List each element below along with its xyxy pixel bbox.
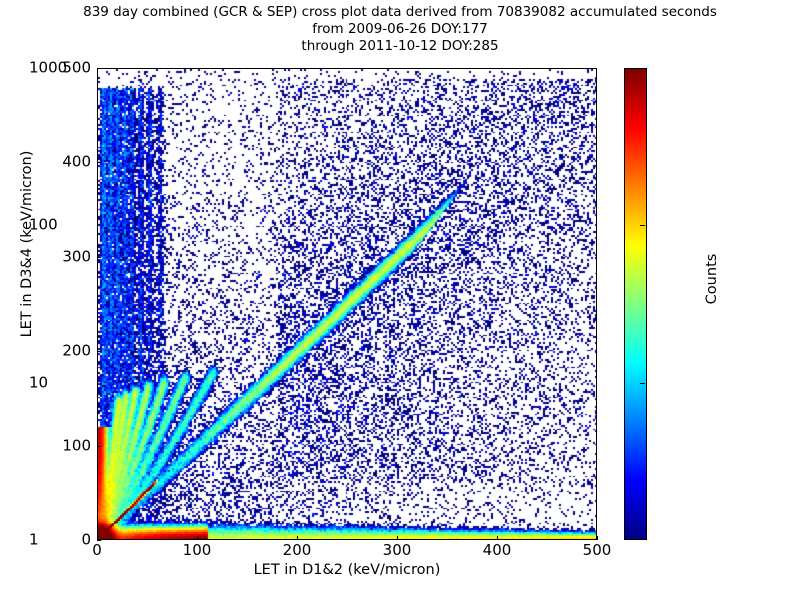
x-tick-mark	[397, 536, 398, 540]
x-tick-mark	[97, 536, 98, 540]
x-tick-mark	[197, 536, 198, 540]
x-tick-label: 400	[483, 543, 512, 558]
title-line-3: through 2011-10-12 DOY:285	[0, 38, 800, 55]
x-tick-mark	[497, 536, 498, 540]
figure-root: 839 day combined (GCR & SEP) cross plot …	[0, 0, 800, 600]
y-tick-label: 0	[51, 533, 91, 548]
colorbar-tick-mark	[640, 225, 645, 226]
x-tick-label: 500	[583, 543, 612, 558]
x-tick-label: 300	[383, 543, 412, 558]
x-tick-mark	[297, 536, 298, 540]
colorbar-tick-label: 1000	[29, 61, 67, 76]
y-tick-mark	[97, 68, 101, 69]
y-tick-mark	[97, 162, 101, 163]
x-tick-mark	[597, 536, 598, 540]
y-tick-mark	[97, 257, 101, 258]
colorbar-tick-label: 10	[29, 375, 48, 390]
colorbar-tick-label: 1	[29, 533, 39, 548]
title-line-2: from 2009-06-26 DOY:177	[0, 21, 800, 38]
y-tick-label: 400	[51, 155, 91, 170]
plot-area	[97, 68, 597, 540]
y-tick-mark	[97, 351, 101, 352]
y-axis-label-wrap: LET in D3&4 (keV/micron)	[0, 0, 1, 1]
x-tick-label: 200	[283, 543, 312, 558]
title-line-1: 839 day combined (GCR & SEP) cross plot …	[0, 4, 800, 21]
colorbar-tick-label: 100	[29, 218, 58, 233]
colorbar-tick-mark	[640, 383, 645, 384]
y-tick-label: 100	[51, 438, 91, 453]
y-tick-mark	[97, 446, 101, 447]
y-tick-label: 200	[51, 344, 91, 359]
density-heatmap-canvas	[98, 69, 596, 539]
colorbar-gradient	[625, 69, 646, 539]
y-tick-label: 300	[51, 249, 91, 264]
colorbar-label: Counts	[704, 179, 720, 379]
plot-title: 839 day combined (GCR & SEP) cross plot …	[0, 4, 800, 55]
y-axis-tick-labels: 0100200300400500	[47, 68, 91, 540]
x-tick-label: 100	[183, 543, 212, 558]
y-axis-label: LET in D3&4 (keV/micron)	[19, 144, 35, 344]
x-tick-label: 0	[92, 543, 102, 558]
x-axis-label: LET in D1&2 (keV/micron)	[97, 562, 597, 578]
colorbar	[624, 68, 647, 540]
